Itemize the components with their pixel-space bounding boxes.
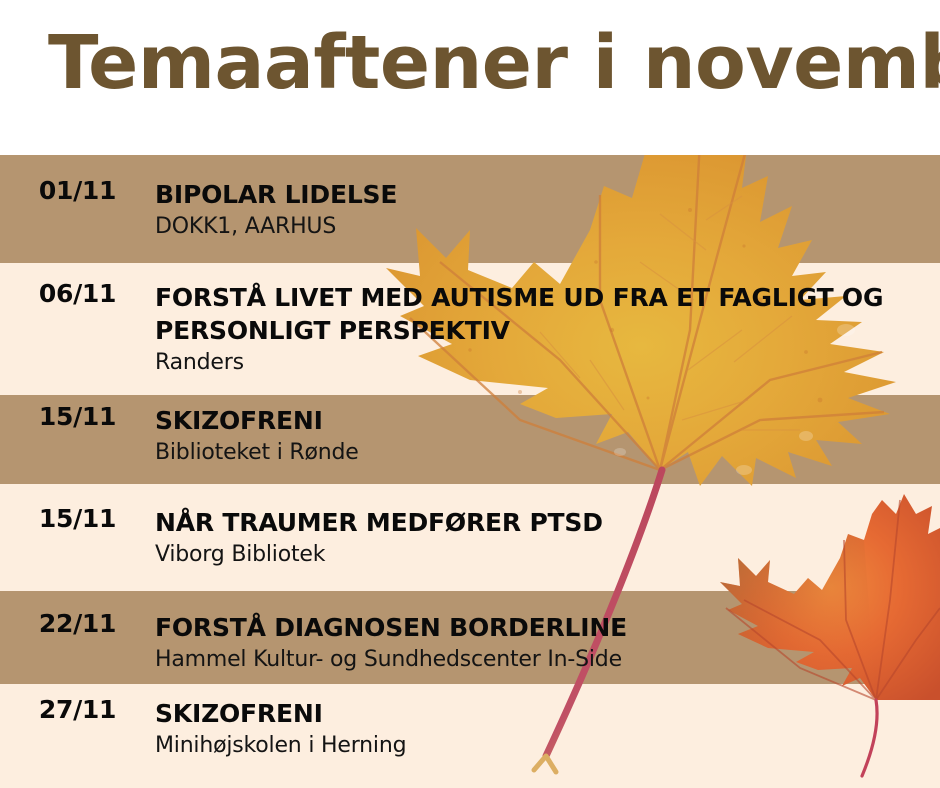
event-body: NÅR TRAUMER MEDFØRER PTSDViborg Bibliote… [155, 506, 940, 569]
event-title: FORSTÅ DIAGNOSEN BORDERLINE [155, 611, 930, 644]
event-row[interactable]: 27/11SKIZOFRENIMinihøjskolen i Herning [0, 697, 940, 760]
page-title: Temaaftener i november [48, 26, 940, 100]
event-body: FORSTÅ LIVET MED AUTISME UD FRA ET FAGLI… [155, 281, 940, 377]
event-date: 01/11 [0, 178, 155, 203]
event-row[interactable]: 01/11BIPOLAR LIDELSEDOKK1, AARHUS [0, 178, 940, 241]
event-venue: DOKK1, AARHUS [155, 213, 930, 241]
event-date: 06/11 [0, 281, 155, 306]
event-date: 27/11 [0, 697, 155, 722]
event-title: BIPOLAR LIDELSE [155, 178, 930, 211]
event-row[interactable]: 15/11SKIZOFRENIBiblioteket i Rønde [0, 404, 940, 467]
event-venue: Viborg Bibliotek [155, 541, 930, 569]
event-row[interactable]: 06/11FORSTÅ LIVET MED AUTISME UD FRA ET … [0, 281, 940, 377]
event-venue: Hammel Kultur- og Sundhedscenter In-Side [155, 646, 930, 674]
event-body: BIPOLAR LIDELSEDOKK1, AARHUS [155, 178, 940, 241]
event-body: FORSTÅ DIAGNOSEN BORDERLINEHammel Kultur… [155, 611, 940, 674]
event-date: 15/11 [0, 506, 155, 531]
event-title: NÅR TRAUMER MEDFØRER PTSD [155, 506, 930, 539]
event-venue: Biblioteket i Rønde [155, 439, 930, 467]
event-title: FORSTÅ LIVET MED AUTISME UD FRA ET FAGLI… [155, 281, 930, 347]
event-row[interactable]: 15/11NÅR TRAUMER MEDFØRER PTSDViborg Bib… [0, 506, 940, 569]
event-body: SKIZOFRENIBiblioteket i Rønde [155, 404, 940, 467]
event-row[interactable]: 22/11FORSTÅ DIAGNOSEN BORDERLINEHammel K… [0, 611, 940, 674]
event-body: SKIZOFRENIMinihøjskolen i Herning [155, 697, 940, 760]
event-venue: Randers [155, 349, 930, 377]
header-band: Temaaftener i november [0, 0, 940, 155]
event-title: SKIZOFRENI [155, 404, 930, 437]
event-date: 22/11 [0, 611, 155, 636]
event-title: SKIZOFRENI [155, 697, 930, 730]
event-venue: Minihøjskolen i Herning [155, 732, 930, 760]
poster-canvas: Temaaftener i november 01/11BIPOLAR LIDE… [0, 0, 940, 788]
event-date: 15/11 [0, 404, 155, 429]
